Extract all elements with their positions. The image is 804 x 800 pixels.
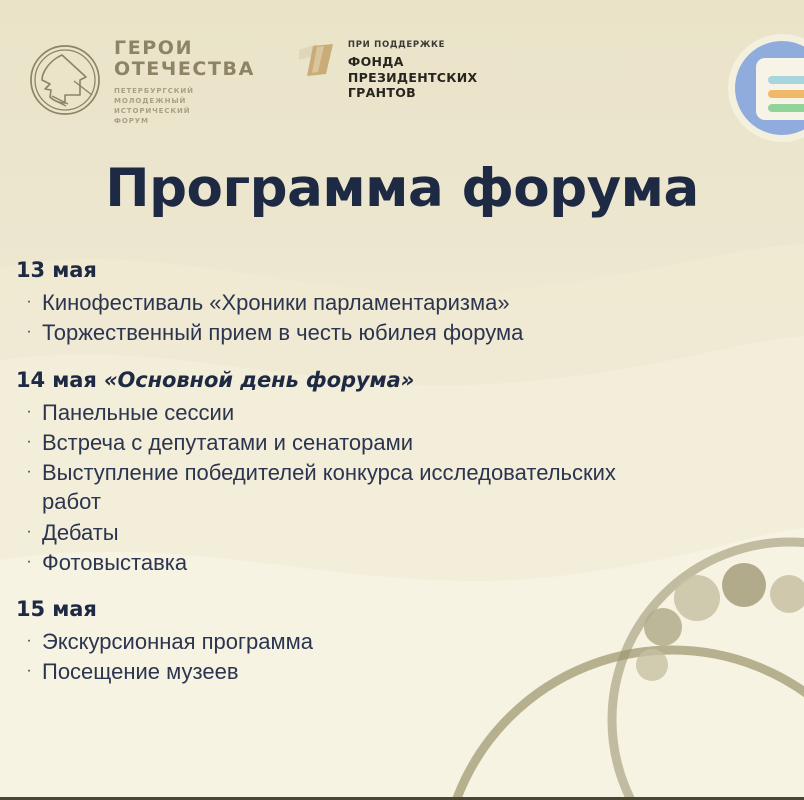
heroes-subtitle: ПЕТЕРБУРГСКИЙ МОЛОДЕЖНЫЙ ИСТОРИЧЕСКИЙ ФО… [114, 86, 255, 127]
list-item-text: Встреча с депутатами и сенаторами [42, 428, 676, 457]
presidential-grants-logo: ПРИ ПОДДЕРЖКЕ ФОНДА ПРЕЗИДЕНТСКИХ ГРАНТО… [295, 34, 478, 101]
heroes-subtitle-line-2: МОЛОДЕЖНЫЙ [114, 96, 255, 106]
day-date: 15 мая [16, 597, 97, 621]
list-item-text: Фотовыставка [42, 548, 676, 577]
day-item-list: · Экскурсионная программа · Посещение му… [16, 627, 676, 687]
list-item-text: Панельные сессии [42, 398, 676, 427]
list-item-text: Кинофестиваль «Хроники парламентаризма» [42, 288, 676, 317]
list-item: · Экскурсионная программа [16, 627, 676, 656]
list-item: · Выступление победителей конкурса иссле… [16, 458, 676, 517]
program-schedule: 13 мая · Кинофестиваль «Хроники парламен… [16, 258, 676, 688]
bullet-icon: · [16, 548, 42, 576]
bullet-icon: · [16, 657, 42, 685]
bullet-icon: · [16, 627, 42, 655]
heroes-wordmark: ГЕРОИ ОТЕЧЕСТВА ПЕТЕРБУРГСКИЙ МОЛОДЕЖНЫЙ… [114, 34, 255, 126]
list-item-text: Дебаты [42, 518, 676, 547]
bullet-icon: · [16, 458, 42, 486]
day-item-list: · Кинофестиваль «Хроники парламентаризма… [16, 288, 676, 348]
grants-prefix: ПРИ ПОДДЕРЖКЕ [348, 40, 478, 51]
day-heading: 14 мая «Основной день форума» [16, 368, 676, 392]
list-item: · Посещение музеев [16, 657, 676, 686]
list-item: · Торжественный прием в честь юбилея фор… [16, 318, 676, 347]
heroes-subtitle-line-1: ПЕТЕРБУРГСКИЙ [114, 86, 255, 96]
heroes-subtitle-line-4: ФОРУМ [114, 116, 255, 126]
heroes-title-line2: ОТЕЧЕСТВА [114, 59, 255, 80]
list-item-text: Выступление победителей конкурса исследо… [42, 458, 676, 517]
day-date: 13 мая [16, 258, 97, 282]
grants-name-line-1: ФОНДА [348, 54, 478, 70]
bullet-icon: · [16, 398, 42, 426]
day-heading: 13 мая [16, 258, 676, 282]
day-heading: 15 мая [16, 597, 676, 621]
list-item-text: Экскурсионная программа [42, 627, 676, 656]
grants-name-line-2: ПРЕЗИДЕНТСКИХ [348, 70, 478, 86]
list-item-text: Торжественный прием в честь юбилея форум… [42, 318, 676, 347]
list-item-text: Посещение музеев [42, 657, 676, 686]
heroes-title-line1: ГЕРОИ [114, 38, 255, 59]
day-date: 14 мая [16, 368, 97, 392]
bullet-icon: · [16, 288, 42, 316]
list-item: · Кинофестиваль «Хроники парламентаризма… [16, 288, 676, 317]
soldier-profile-emblem-icon [28, 43, 102, 117]
bullet-icon: · [16, 428, 42, 456]
list-item: · Фотовыставка [16, 548, 676, 577]
header-logos: ГЕРОИ ОТЕЧЕСТВА ПЕТЕРБУРГСКИЙ МОЛОДЕЖНЫЙ… [28, 34, 804, 134]
document-badge-icon [726, 32, 804, 144]
bullet-icon: · [16, 518, 42, 546]
page-title: Программа форума [0, 158, 804, 219]
grants-name-line-3: ГРАНТОВ [348, 85, 478, 101]
heroes-subtitle-line-3: ИСТОРИЧЕСКИЙ [114, 106, 255, 116]
day-block-14-may: 14 мая «Основной день форума» · Панельны… [16, 368, 676, 578]
list-item: · Встреча с депутатами и сенаторами [16, 428, 676, 457]
grants-wordmark: ПРИ ПОДДЕРЖКЕ ФОНДА ПРЕЗИДЕНТСКИХ ГРАНТО… [348, 38, 478, 101]
list-item: · Панельные сессии [16, 398, 676, 427]
grants-name: ФОНДА ПРЕЗИДЕНТСКИХ ГРАНТОВ [348, 54, 478, 101]
day-block-13-may: 13 мая · Кинофестиваль «Хроники парламен… [16, 258, 676, 348]
list-item: · Дебаты [16, 518, 676, 547]
day-subtitle: «Основной день форума» [104, 368, 414, 392]
bullet-icon: · [16, 318, 42, 346]
presidential-grants-flag-mark-icon [295, 38, 339, 82]
heroes-of-fatherland-logo: ГЕРОИ ОТЕЧЕСТВА ПЕТЕРБУРГСКИЙ МОЛОДЕЖНЫЙ… [28, 34, 255, 126]
day-item-list: · Панельные сессии · Встреча с депутатам… [16, 398, 676, 578]
day-block-15-may: 15 мая · Экскурсионная программа · Посещ… [16, 597, 676, 687]
